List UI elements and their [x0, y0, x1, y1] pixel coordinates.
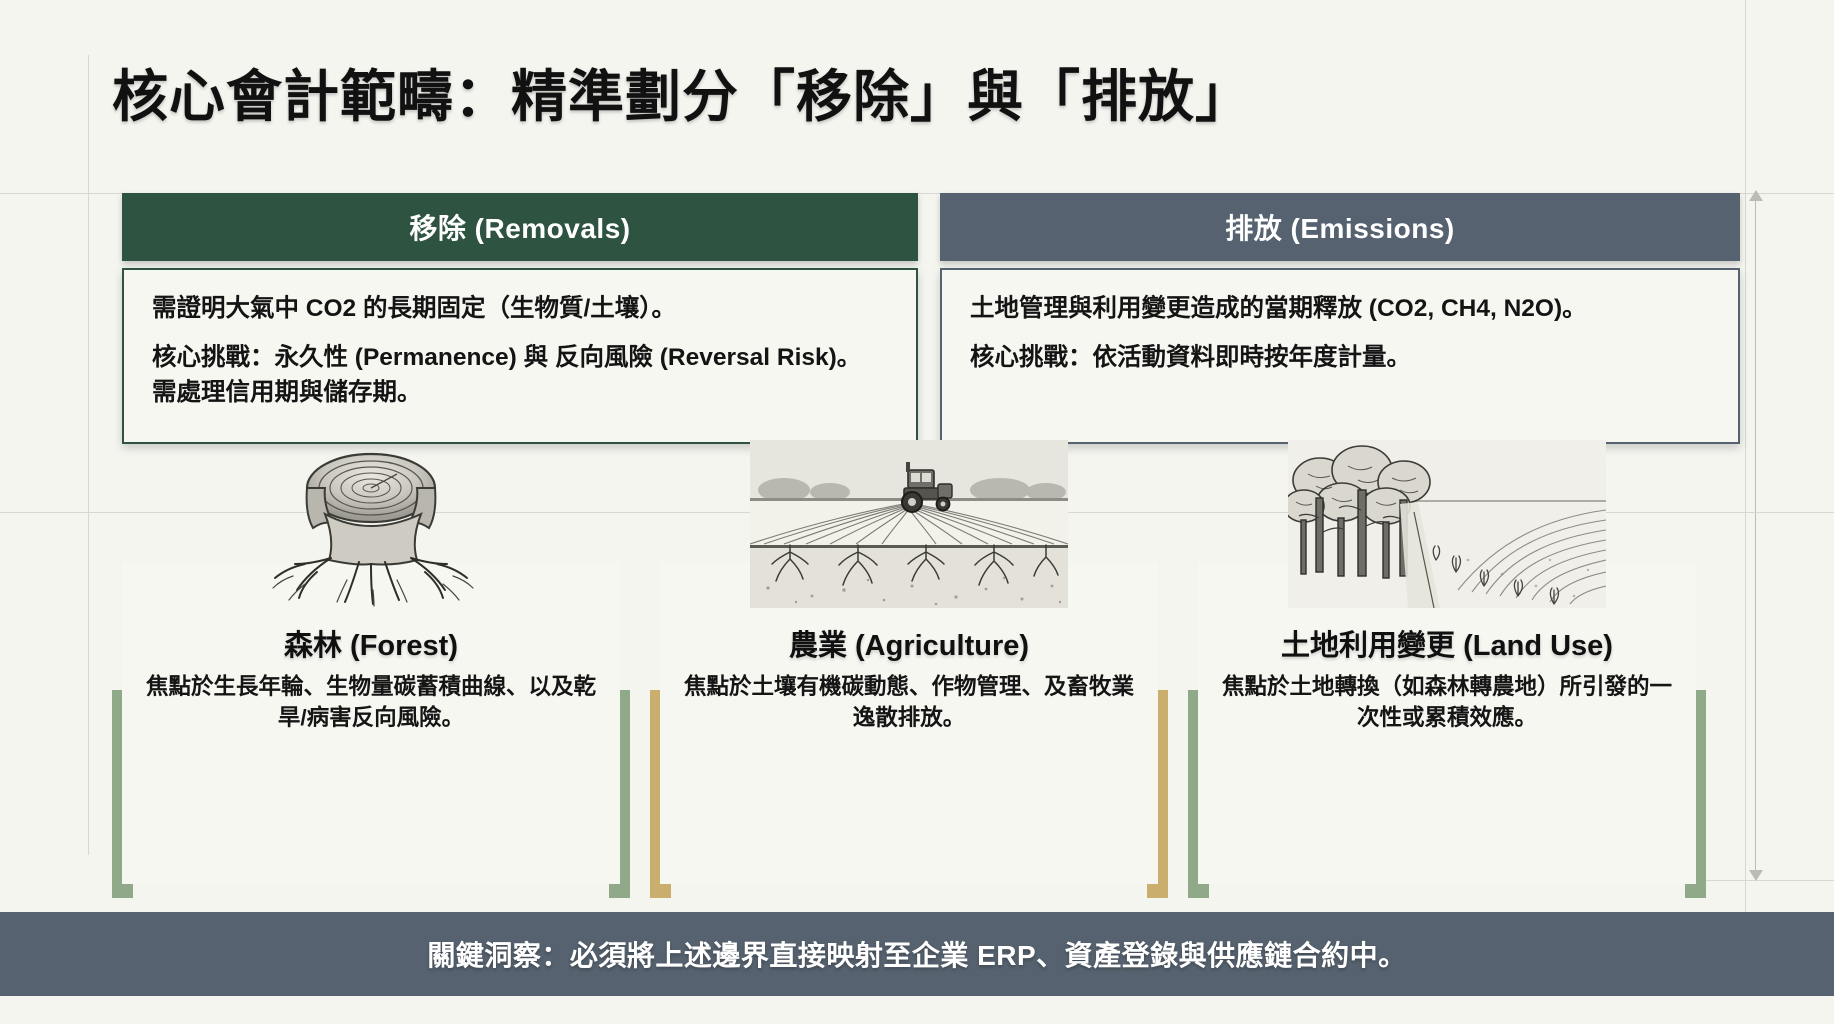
card-land-use-desc: 焦點於土地轉換（如森林轉農地）所引發的一次性或累積效應。	[1198, 672, 1696, 733]
panel-emissions: 排放 (Emissions) 土地管理與利用變更造成的當期釋放 (CO2, CH…	[940, 193, 1740, 444]
measure-arrow-upper-head	[1749, 190, 1763, 201]
tractor-field-soil-icon	[750, 440, 1068, 608]
measure-arrow-lower-head	[1749, 870, 1763, 881]
panel-emissions-body: 土地管理與利用變更造成的當期釋放 (CO2, CH4, N2O)。 核心挑戰：依…	[940, 268, 1740, 444]
card-agriculture: 農業 (Agriculture) 焦點於土壤有機碳動態、作物管理、及畜牧業逸散排…	[660, 562, 1158, 884]
guide-vertical-left	[88, 55, 89, 855]
panel-removals-header: 移除 (Removals)	[122, 193, 918, 261]
panel-emissions-header: 排放 (Emissions)	[940, 193, 1740, 261]
card-agriculture-inner: 農業 (Agriculture) 焦點於土壤有機碳動態、作物管理、及畜牧業逸散排…	[660, 562, 1158, 884]
key-insight-banner: 關鍵洞察：必須將上述邊界直接映射至企業 ERP、資產登錄與供應鏈合約中。	[0, 912, 1834, 996]
card-agriculture-title: 農業 (Agriculture)	[789, 622, 1029, 664]
card-land-use: 土地利用變更 (Land Use) 焦點於土地轉換（如森林轉農地）所引發的一次性…	[1198, 562, 1696, 884]
panel-removals-line-1: 需證明大氣中 CO2 的長期固定（生物質/土壤）。	[152, 292, 888, 327]
card-land-use-inner: 土地利用變更 (Land Use) 焦點於土地轉換（如森林轉農地）所引發的一次性…	[1198, 562, 1696, 884]
panel-emissions-line-2: 核心挑戰：依活動資料即時按年度計量。	[970, 341, 1710, 376]
slide-canvas: 核心會計範疇：精準劃分「移除」與「排放」 移除 (Removals) 需證明大氣…	[0, 0, 1834, 1024]
key-insight-text: 關鍵洞察：必須將上述邊界直接映射至企業 ERP、資產登錄與供應鏈合約中。	[427, 934, 1406, 974]
tree-stump-roots-icon	[247, 440, 495, 608]
panel-removals-body: 需證明大氣中 CO2 的長期固定（生物質/土壤）。 核心挑戰：永久性 (Perm…	[122, 268, 918, 444]
measure-arrow-lower	[1755, 513, 1756, 880]
card-forest-title: 森林 (Forest)	[284, 622, 458, 664]
forest-to-farmland-icon	[1288, 440, 1606, 608]
page-title: 核心會計範疇：精準劃分「移除」與「排放」	[112, 52, 1252, 133]
card-forest: 森林 (Forest) 焦點於生長年輪、生物量碳蓄積曲線、以及乾旱/病害反向風險…	[122, 562, 620, 884]
panel-removals: 移除 (Removals) 需證明大氣中 CO2 的長期固定（生物質/土壤）。 …	[122, 193, 918, 444]
panel-removals-line-2: 核心挑戰：永久性 (Permanence) 與 反向風險 (Reversal R…	[152, 341, 888, 411]
measure-arrow-upper	[1755, 194, 1756, 512]
guide-vertical-right	[1745, 0, 1746, 912]
card-forest-inner: 森林 (Forest) 焦點於生長年輪、生物量碳蓄積曲線、以及乾旱/病害反向風險…	[122, 562, 620, 884]
card-agriculture-desc: 焦點於土壤有機碳動態、作物管理、及畜牧業逸散排放。	[660, 672, 1158, 733]
card-forest-desc: 焦點於生長年輪、生物量碳蓄積曲線、以及乾旱/病害反向風險。	[122, 672, 620, 733]
panel-emissions-line-1: 土地管理與利用變更造成的當期釋放 (CO2, CH4, N2O)。	[970, 292, 1710, 327]
card-land-use-title: 土地利用變更 (Land Use)	[1281, 622, 1613, 664]
